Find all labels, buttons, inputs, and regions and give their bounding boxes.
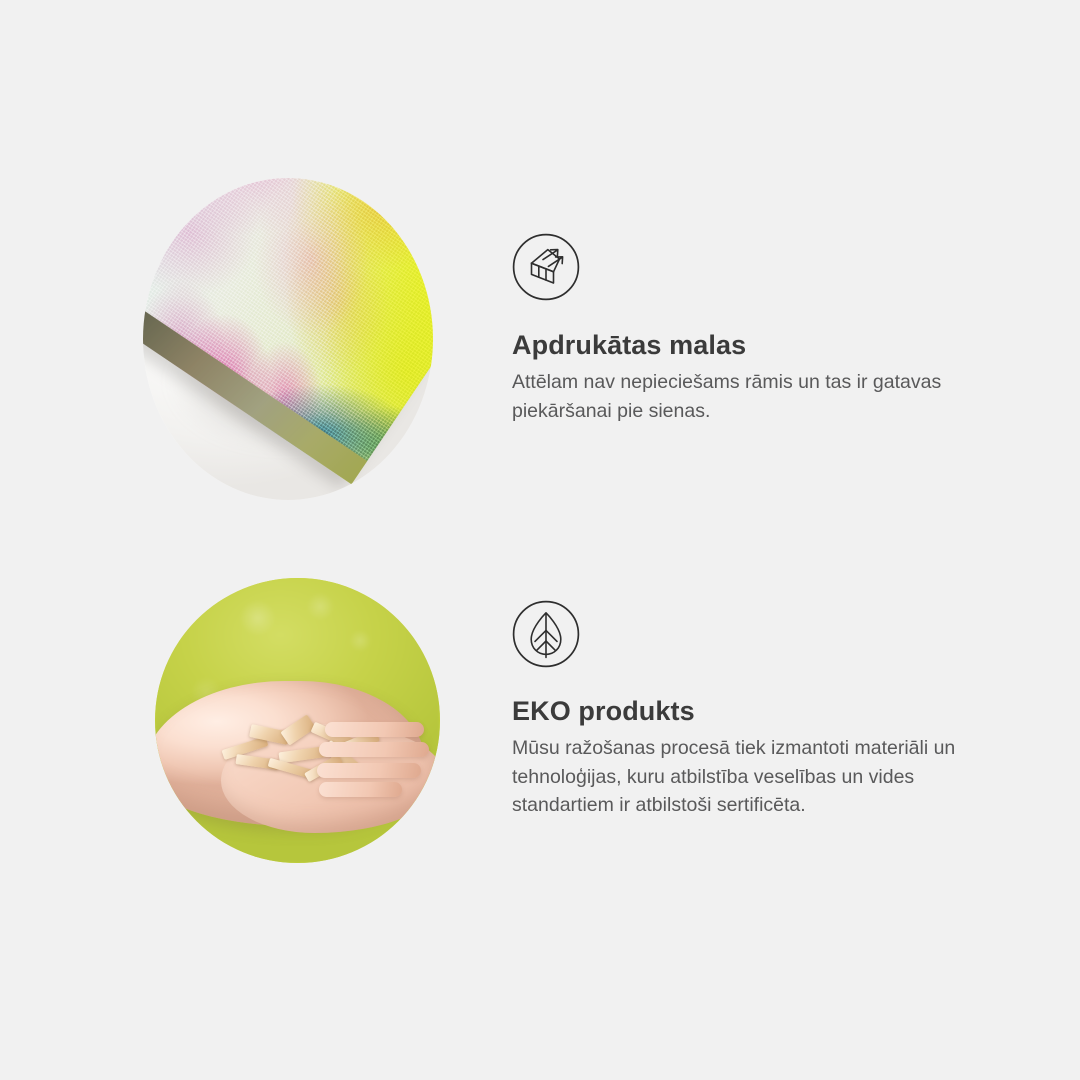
feature-eko-product: EKO produkts Mūsu ražošanas procesā tiek…	[0, 578, 1080, 878]
feature-title: EKO produkts	[512, 696, 1022, 727]
canvas-corner-photo	[143, 178, 433, 500]
printed-edges-icon	[512, 233, 580, 301]
feature-title: Apdrukātas malas	[512, 330, 1017, 361]
wood-chips-in-hands-photo	[155, 578, 440, 863]
eko-text-column: EKO produkts Mūsu ražošanas procesā tiek…	[512, 600, 1022, 820]
hands	[155, 664, 440, 841]
leaf-icon	[512, 600, 580, 668]
feature-info-panel: Apdrukātas malas Attēlam nav nepieciešam…	[0, 0, 1080, 1080]
feature-description: Mūsu ražošanas procesā tiek izmantoti ma…	[512, 734, 1012, 820]
feature-description: Attēlam nav nepieciešams rāmis un tas ir…	[512, 368, 1012, 425]
printed-edges-text-column: Apdrukātas malas Attēlam nav nepieciešam…	[512, 233, 1017, 425]
fingers	[317, 713, 440, 805]
feature-printed-edges: Apdrukātas malas Attēlam nav nepieciešam…	[0, 178, 1080, 508]
